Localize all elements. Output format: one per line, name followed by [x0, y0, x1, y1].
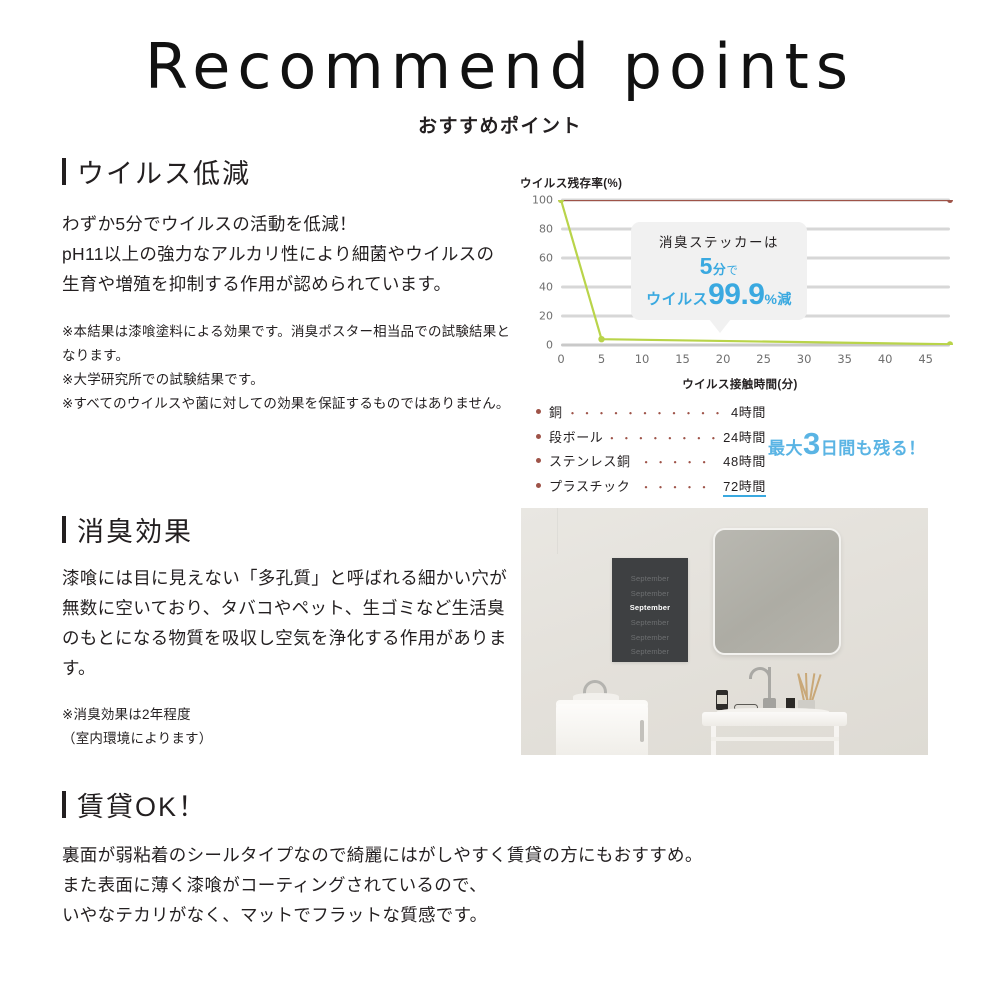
virus-survival-chart: ウイルス残存率(%) 100806040200 消臭ステッカーは 5分で ウイル… [520, 175, 960, 345]
page-title: Recommend points [0, 34, 1000, 99]
section1-heading: ウイルス低減 [62, 152, 512, 191]
section1-title: ウイルス低減 [77, 152, 251, 191]
section-virus-reduction: ウイルス低減 わずか5分でウイルスの活動を低減！pH11以上の強力なアルカリ性に… [62, 152, 512, 416]
callout-line-2: 5分で [641, 253, 797, 280]
callout-percent-number: 99.9 [708, 278, 764, 311]
section3-heading: 賃貸OK！ [62, 785, 822, 824]
chart-annotation-callout: 消臭ステッカーは 5分で ウイルス99.9%減 [631, 222, 807, 320]
chart-y-axis-label: ウイルス残存率(%) [520, 175, 960, 191]
section3-body: 裏面が弱粘着のシールタイプなので綺麗にはがしやすく賃貸の方にもおすすめ。また表面… [62, 840, 822, 930]
september-poster: SeptemberSeptemberSeptemberSeptemberSept… [612, 558, 688, 662]
legend-duration-value: 72時間 [723, 476, 766, 497]
chart-data-point [558, 200, 564, 203]
vanity-legs [711, 726, 839, 755]
photo-wall-seam [557, 508, 558, 554]
poster-text-line: September [612, 587, 688, 602]
toilet-handle [640, 720, 644, 742]
chart-x-axis-label: ウイルス接触時間(分) [520, 376, 960, 392]
bathroom-photo: SeptemberSeptemberSeptemberSeptemberSept… [521, 508, 928, 755]
legend-dot-leader: ・・・・・ [631, 454, 724, 470]
legend-dot-leader: ・・・・・ [630, 479, 723, 495]
legend-bullet-icon [536, 434, 541, 439]
chart-x-tick-label: 40 [878, 352, 893, 366]
legend-row: プラスチック・・・・・72時間 [536, 476, 766, 497]
chart-x-tick-label: 5 [598, 352, 605, 366]
callout-virus-label: ウイルス [646, 291, 708, 308]
note-item: ※すべてのウイルスや菌に対しての効果を保証するものではありません。 [62, 392, 512, 416]
chart-x-tick-label: 10 [635, 352, 650, 366]
legend-bullet-icon [536, 483, 541, 488]
note-item: ※本結果は漆喰塗料による効果です。消臭ポスター相当品での試験結果となります。 [62, 320, 512, 368]
note-item: （室内環境によります） [62, 727, 522, 751]
section2-notes: ※消臭効果は2年程度 （室内環境によります） [62, 703, 522, 751]
callout-minutes-unit: 分 [713, 262, 727, 277]
heading-bar-icon [62, 516, 66, 543]
legend-material-name: ステンレス銅 [549, 451, 631, 470]
section2-heading: 消臭効果 [62, 510, 522, 549]
chart-data-point [598, 336, 604, 342]
legend-row: ステンレス銅・・・・・48時間 [536, 451, 766, 470]
note-item: ※消臭効果は2年程度 [62, 703, 522, 727]
section3-title: 賃貸OK！ [77, 785, 207, 824]
poster-text-line: September [612, 616, 688, 631]
page-subtitle: おすすめポイント [0, 111, 1000, 138]
section-deodorizing-effect: 消臭効果 漆喰には目に見えない「多孔質」と呼ばれる細かい穴が無数に空いており、タ… [62, 510, 522, 751]
heading-bar-icon [62, 158, 66, 185]
chart-x-tick-label: 35 [837, 352, 852, 366]
section2-title: 消臭効果 [77, 510, 193, 549]
chart-plot-area: 100806040200 消臭ステッカーは 5分で ウイルス99.9%減 051… [520, 200, 960, 345]
callout-line-3: ウイルス99.9%減 [641, 280, 797, 310]
chart-x-tick-label: 0 [557, 352, 564, 366]
callout-line-1: 消臭ステッカーは [641, 231, 797, 251]
callout-percent-sign: % [764, 291, 777, 307]
heading-bar-icon [62, 791, 66, 818]
legend-duration-value: 24時間 [723, 427, 766, 446]
poster-text-line: September [612, 631, 688, 646]
section1-notes: ※本結果は漆喰塗料による効果です。消臭ポスター相当品での試験結果となります。 ※… [62, 320, 512, 416]
chart-x-tick-label: 45 [918, 352, 933, 366]
max-days-prefix: 最大 [768, 439, 803, 458]
legend-bullet-icon [536, 458, 541, 463]
section2-body: 漆喰には目に見えない「多孔質」と呼ばれる細かい穴が無数に空いており、タバコやペッ… [62, 563, 522, 683]
survival-time-legend: 銅・・・・・・・・・・・4時間段ボール・・・・・・・・24時間ステンレス銅・・・… [536, 402, 766, 502]
chart-x-tick-label: 20 [716, 352, 731, 366]
note-item: ※大学研究所での試験結果です。 [62, 368, 512, 392]
callout-percent-tail: 減 [777, 291, 792, 307]
max-days-number: 3 [803, 426, 821, 461]
callout-minutes-number: 5 [700, 253, 713, 279]
page-header: Recommend points おすすめポイント [0, 34, 1000, 138]
bathroom-mirror [713, 528, 841, 655]
legend-dot-leader: ・・・・・・・・ [603, 430, 723, 446]
poster-text-line: September [612, 601, 688, 616]
max-days-suffix: 日間も残る！ [821, 439, 926, 458]
legend-row: 段ボール・・・・・・・・24時間 [536, 427, 766, 446]
vanity-countertop [702, 712, 847, 726]
chart-x-tick-label: 25 [756, 352, 771, 366]
legend-duration-value: 4時間 [731, 402, 766, 421]
toilet-tank [556, 704, 648, 755]
legend-bullet-icon [536, 409, 541, 414]
poster-text-line: September [612, 645, 688, 660]
section1-body: わずか5分でウイルスの活動を低減！pH11以上の強力なアルカリ性により細菌やウイ… [62, 209, 512, 299]
legend-material-name: 銅 [549, 402, 563, 421]
legend-row: 銅・・・・・・・・・・・4時間 [536, 402, 766, 421]
chart-data-point [947, 200, 953, 203]
soap-jar [716, 690, 728, 710]
legend-dot-leader: ・・・・・・・・・・・ [563, 405, 731, 421]
chart-x-tick-label: 15 [675, 352, 690, 366]
poster-text-line: September [612, 572, 688, 587]
callout-minutes-tail: で [726, 265, 738, 277]
legend-material-name: 段ボール [549, 427, 603, 446]
chart-x-tick-label: 30 [797, 352, 812, 366]
legend-duration-value: 48時間 [723, 451, 766, 470]
max-days-highlight: 最大3日間も残る！ [768, 428, 926, 459]
section-rental-ok: 賃貸OK！ 裏面が弱粘着のシールタイプなので綺麗にはがしやすく賃貸の方にもおすす… [62, 785, 822, 930]
chart-data-point [947, 341, 953, 345]
legend-material-name: プラスチック [549, 476, 630, 495]
